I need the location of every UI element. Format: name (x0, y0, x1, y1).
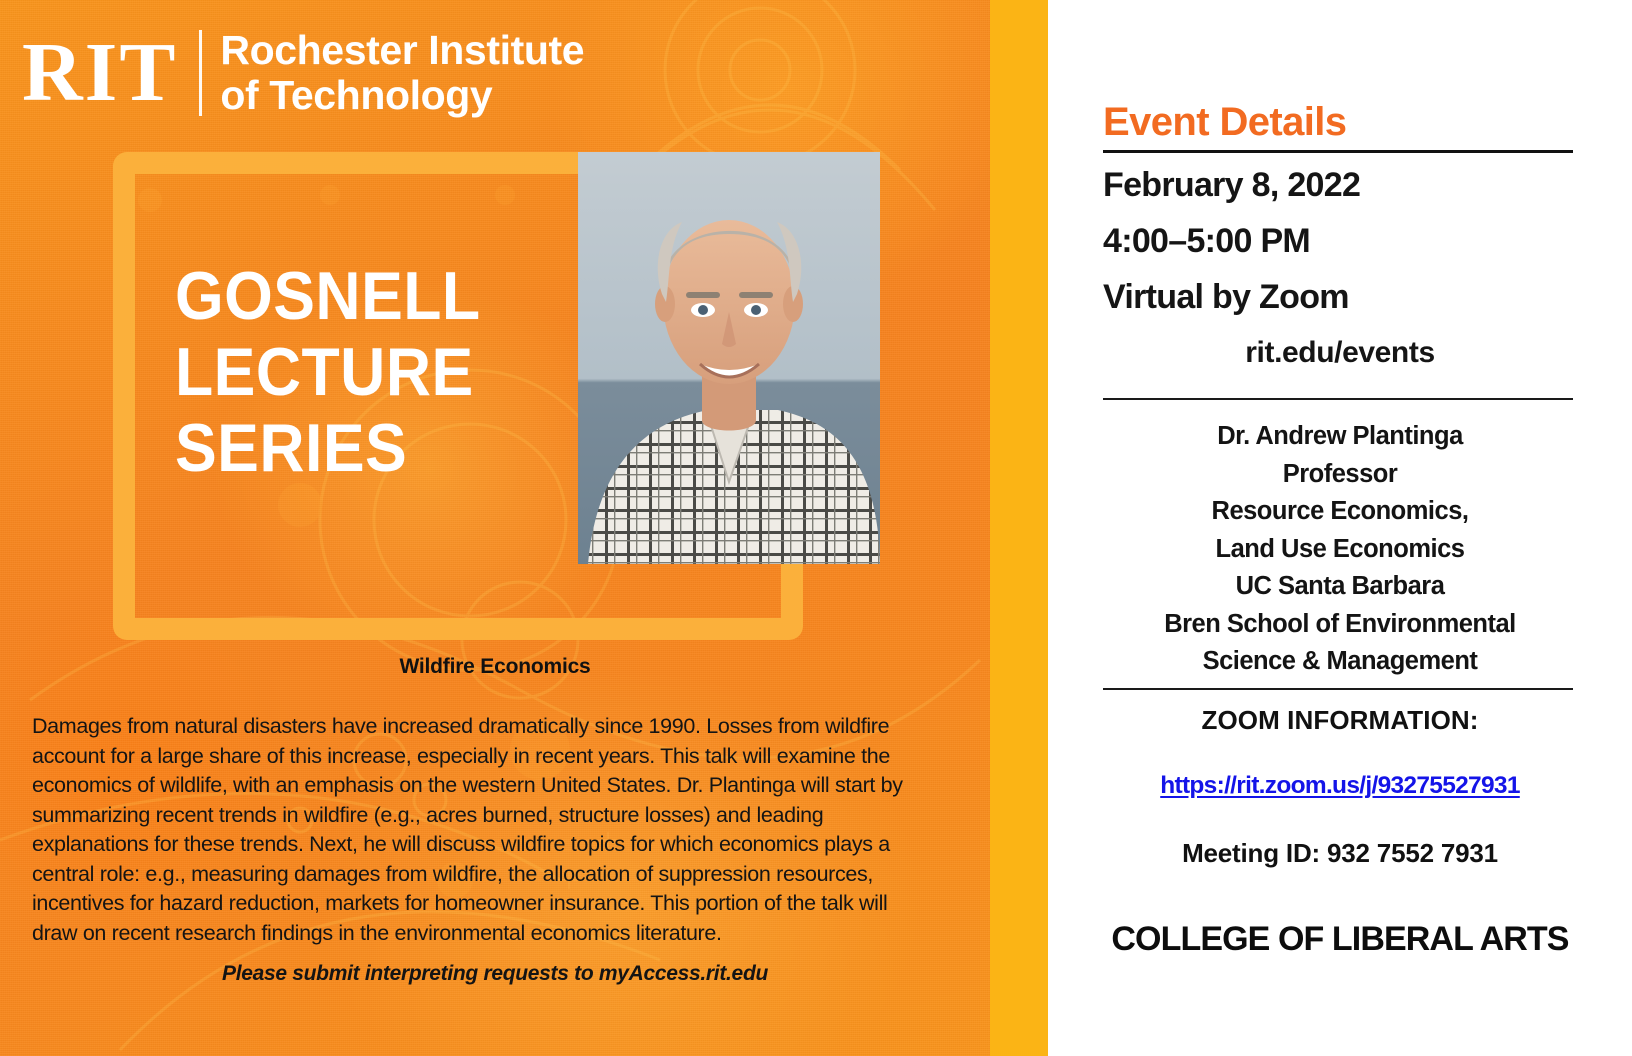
speaker-portrait-illustration (578, 152, 880, 564)
zoom-information-heading: ZOOM INFORMATION: (1048, 705, 1632, 736)
zoom-join-link[interactable]: https://rit.zoom.us/j/93275527931 (1160, 772, 1520, 799)
event-format: Virtual by Zoom (1103, 278, 1349, 317)
speaker-photo (578, 152, 880, 564)
event-website[interactable]: rit.edu/events (1048, 336, 1632, 370)
speaker-field-2: Land Use Economics (1048, 531, 1632, 569)
event-details-underline-rule (1103, 150, 1573, 153)
logo-divider-rule (199, 30, 202, 116)
title-line-1: GOSNELL (175, 258, 561, 334)
speaker-name: Dr. Andrew Plantinga (1048, 418, 1632, 456)
event-date: February 8, 2022 (1103, 166, 1360, 205)
rit-logo-abbr: RIT (22, 34, 177, 111)
speaker-block: Dr. Andrew Plantinga Professor Resource … (1048, 418, 1632, 681)
talk-title: Wildfire Economics (0, 655, 990, 679)
speaker-field-1: Resource Economics, (1048, 493, 1632, 531)
event-details-heading: Event Details (1103, 100, 1573, 145)
title-line-3: SERIES (175, 410, 561, 486)
right-info-panel: Event Details February 8, 2022 4:00–5:00… (1048, 0, 1632, 1056)
rit-logo-wordmark: Rochester Institute of Technology (220, 28, 584, 117)
amber-divider-stripe (990, 0, 1048, 1056)
speaker-school-1: Bren School of Environmental (1048, 606, 1632, 644)
interpreting-request-note: Please submit interpreting requests to m… (0, 962, 990, 986)
speaker-school-2: Science & Management (1048, 643, 1632, 681)
talk-abstract: Damages from natural disasters have incr… (32, 712, 937, 948)
rit-logo-line1: Rochester Institute (220, 27, 584, 73)
speaker-institution: UC Santa Barbara (1048, 568, 1632, 606)
zoom-meeting-id: Meeting ID: 932 7552 7931 (1048, 838, 1632, 869)
event-flyer: RIT Rochester Institute of Technology GO… (0, 0, 1632, 1056)
zoom-section-rule (1103, 688, 1573, 690)
college-footer: COLLEGE OF LIBERAL ARTS (1048, 920, 1632, 959)
rit-logo: RIT Rochester Institute of Technology (22, 28, 584, 117)
rit-logo-line2: of Technology (220, 72, 492, 118)
title-line-2: LECTURE (175, 334, 561, 410)
event-time: 4:00–5:00 PM (1103, 222, 1310, 261)
speaker-section-rule (1103, 398, 1573, 400)
speaker-rank: Professor (1048, 456, 1632, 494)
zoom-link-row: https://rit.zoom.us/j/93275527931 (1048, 772, 1632, 800)
lecture-series-title: GOSNELL LECTURE SERIES (175, 258, 561, 486)
left-orange-panel: RIT Rochester Institute of Technology GO… (0, 0, 990, 1056)
